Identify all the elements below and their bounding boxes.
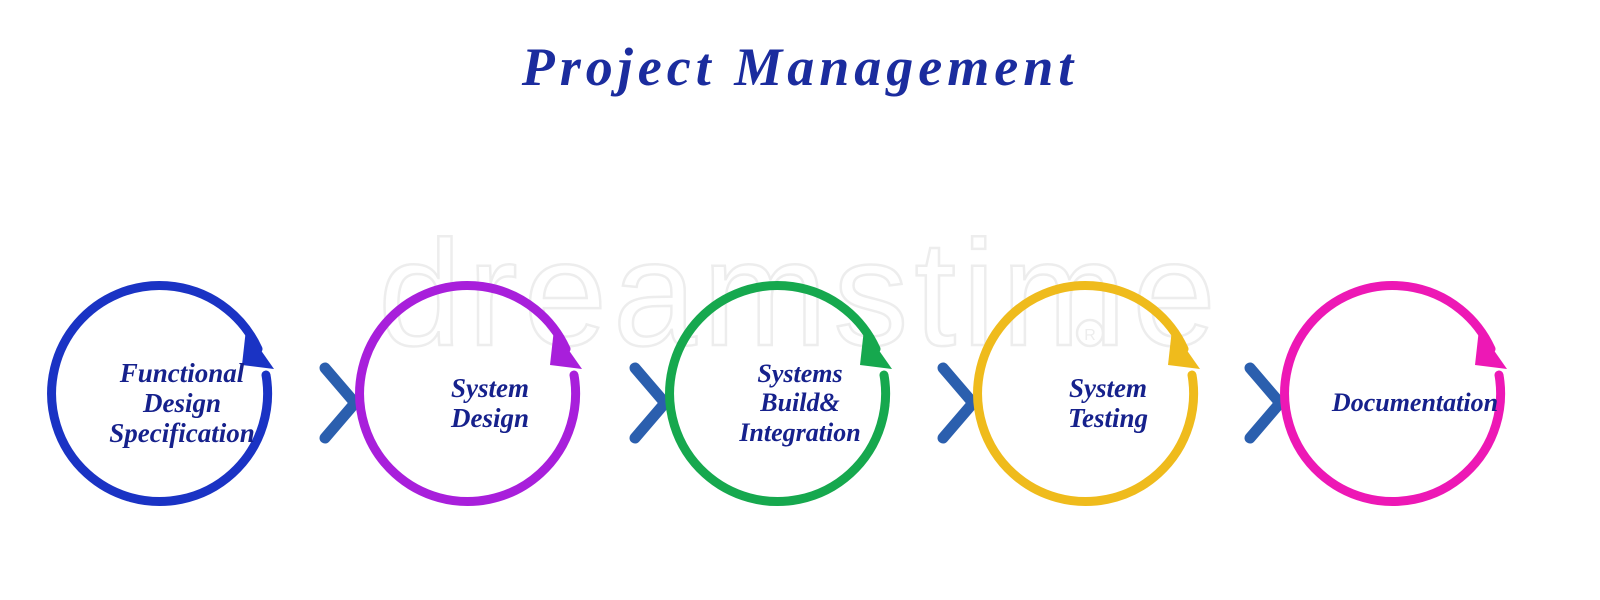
circular-arrow-icon bbox=[680, 283, 920, 523]
stage-node-systems-build-integration[interactable]: Systems Build& Integration bbox=[680, 283, 920, 523]
circular-arrow-icon bbox=[62, 283, 302, 523]
stage-node-functional-design-specification[interactable]: Functional Design Specification bbox=[62, 283, 302, 523]
stage-node-system-design[interactable]: System Design bbox=[370, 283, 610, 523]
circular-arrow-icon bbox=[1295, 283, 1535, 523]
stage-node-system-testing[interactable]: System Testing bbox=[988, 283, 1228, 523]
diagram-canvas: dreamstime R Project Management Function… bbox=[0, 0, 1600, 600]
circular-arrow-icon bbox=[988, 283, 1228, 523]
stage-node-documentation[interactable]: Documentation bbox=[1295, 283, 1535, 523]
page-title: Project Management bbox=[0, 36, 1600, 98]
circular-arrow-icon bbox=[370, 283, 610, 523]
